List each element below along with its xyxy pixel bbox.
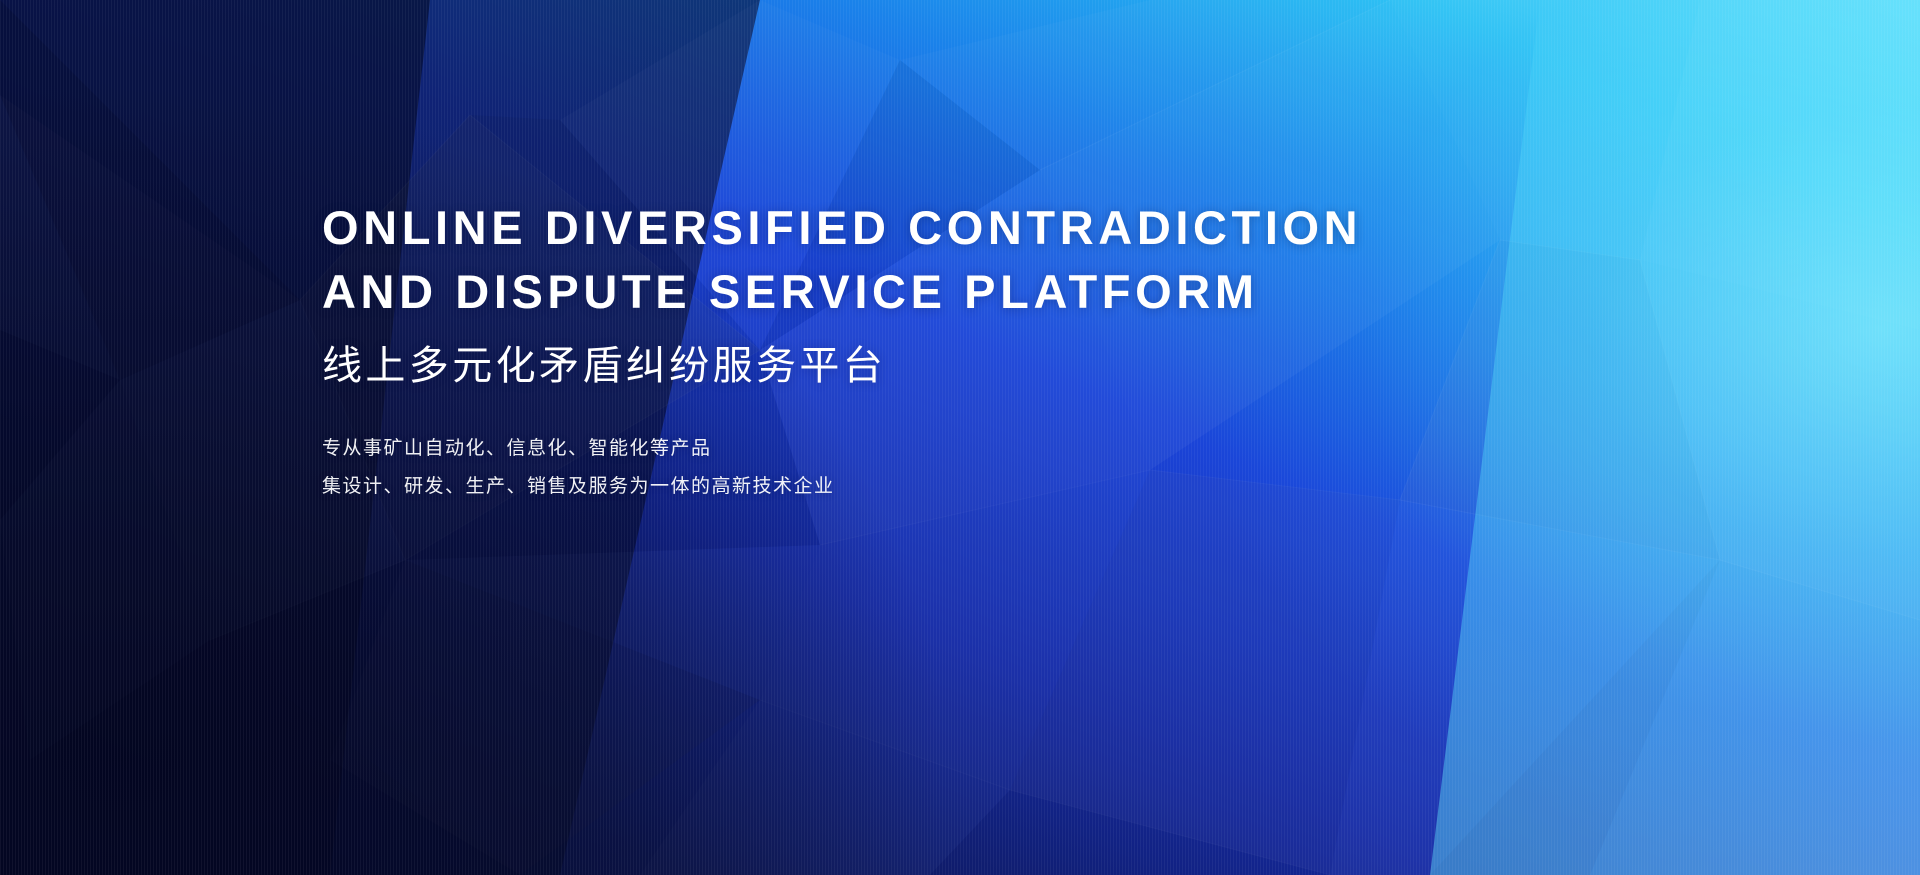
- hero-subtitle-chinese: 线上多元化矛盾纠纷服务平台: [322, 340, 1622, 392]
- hero-banner: ONLINE DIVERSIFIED CONTRADICTION AND DIS…: [0, 0, 1920, 875]
- hero-description: 专从事矿山自动化、信息化、智能化等产品 集设计、研发、生产、销售及服务为一体的高…: [322, 430, 1622, 506]
- hero-description-line-1: 专从事矿山自动化、信息化、智能化等产品: [322, 430, 1622, 468]
- hero-title-line-2: AND DISPUTE SERVICE PLATFORM: [322, 260, 1622, 324]
- hero-content: ONLINE DIVERSIFIED CONTRADICTION AND DIS…: [322, 196, 1622, 506]
- hero-description-line-2: 集设计、研发、生产、销售及服务为一体的高新技术企业: [322, 468, 1622, 506]
- hero-title-line-1: ONLINE DIVERSIFIED CONTRADICTION: [322, 196, 1622, 260]
